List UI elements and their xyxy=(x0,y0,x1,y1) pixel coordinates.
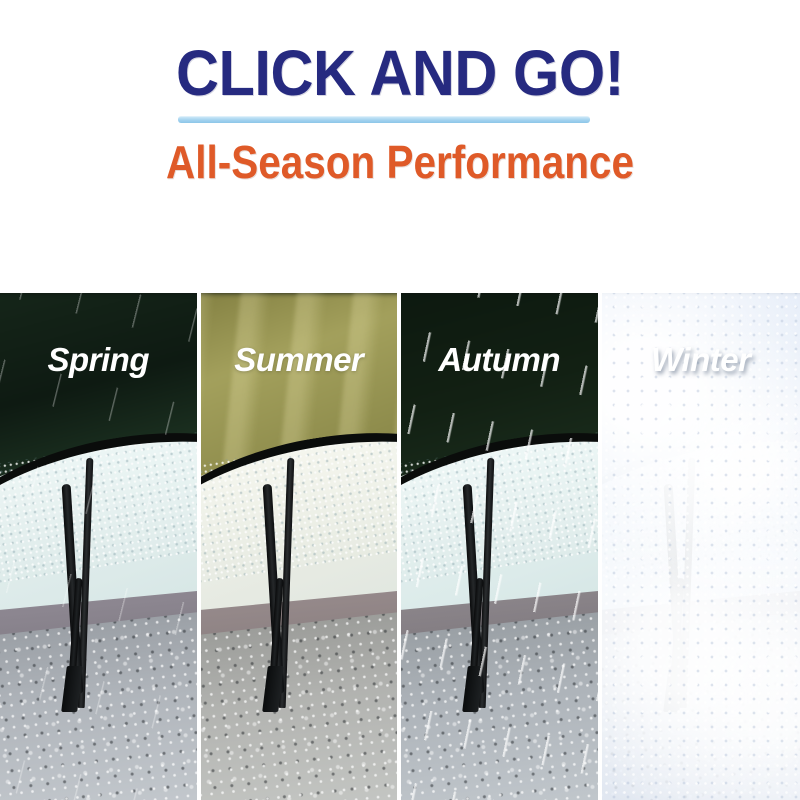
season-label-spring: Spring xyxy=(0,341,197,379)
title-underline-rule xyxy=(178,116,590,123)
season-panel-winter[interactable]: Winter xyxy=(602,293,800,800)
season-panel-strip: Spring xyxy=(0,293,800,800)
season-panel-summer[interactable]: Summer xyxy=(201,293,398,800)
car-hood xyxy=(0,609,197,800)
wiper-blade xyxy=(263,458,297,708)
season-label-winter: Winter xyxy=(602,341,800,379)
car-hood xyxy=(401,609,598,800)
car-hood xyxy=(201,609,398,800)
season-panel-autumn[interactable]: Autumn xyxy=(401,293,598,800)
wiper-blade xyxy=(463,458,497,708)
page-title: CLICK AND GO! xyxy=(28,38,772,108)
season-panel-spring[interactable]: Spring xyxy=(0,293,197,800)
banner-header: CLICK AND GO! All-Season Performance xyxy=(0,0,800,293)
hood-water-droplets xyxy=(0,609,197,800)
page-subtitle: All-Season Performance xyxy=(48,135,752,189)
wiper-blade xyxy=(62,458,96,708)
hood-water-droplets xyxy=(401,609,598,800)
season-label-summer: Summer xyxy=(201,341,398,379)
promo-banner: CLICK AND GO! All-Season Performance xyxy=(0,0,800,800)
season-label-autumn: Autumn xyxy=(401,341,598,379)
hood-water-droplets xyxy=(201,609,398,800)
